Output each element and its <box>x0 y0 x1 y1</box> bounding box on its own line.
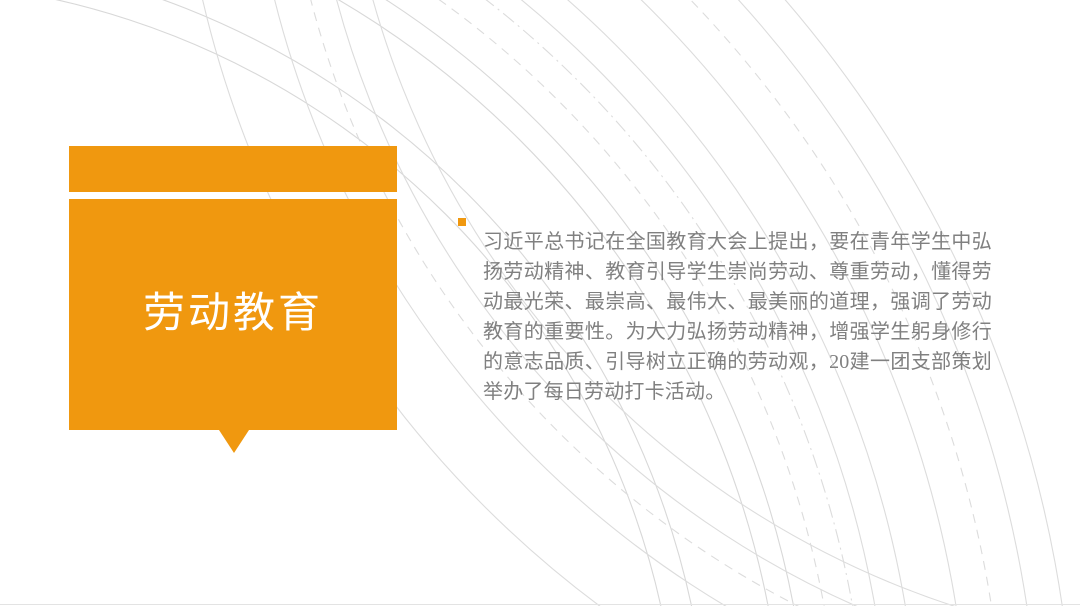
title-callout-body: 劳动教育 <box>69 199 397 430</box>
title-accent-bar <box>69 146 397 192</box>
content-block: 习近平总书记在全国教育大会上提出，要在青年学生中弘扬劳动精神、教育引导学生崇尚劳… <box>458 207 992 427</box>
body-paragraph: 习近平总书记在全国教育大会上提出，要在青年学生中弘扬劳动精神、教育引导学生崇尚劳… <box>483 227 992 407</box>
bottom-edge-rule <box>0 604 1080 605</box>
square-bullet-icon <box>458 218 466 226</box>
slide-canvas: 劳动教育 习近平总书记在全国教育大会上提出，要在青年学生中弘扬劳动精神、教育引导… <box>0 0 1080 606</box>
title-callout: 劳动教育 <box>69 146 397 454</box>
title-callout-tail <box>219 430 249 453</box>
page-title: 劳动教育 <box>143 291 323 337</box>
